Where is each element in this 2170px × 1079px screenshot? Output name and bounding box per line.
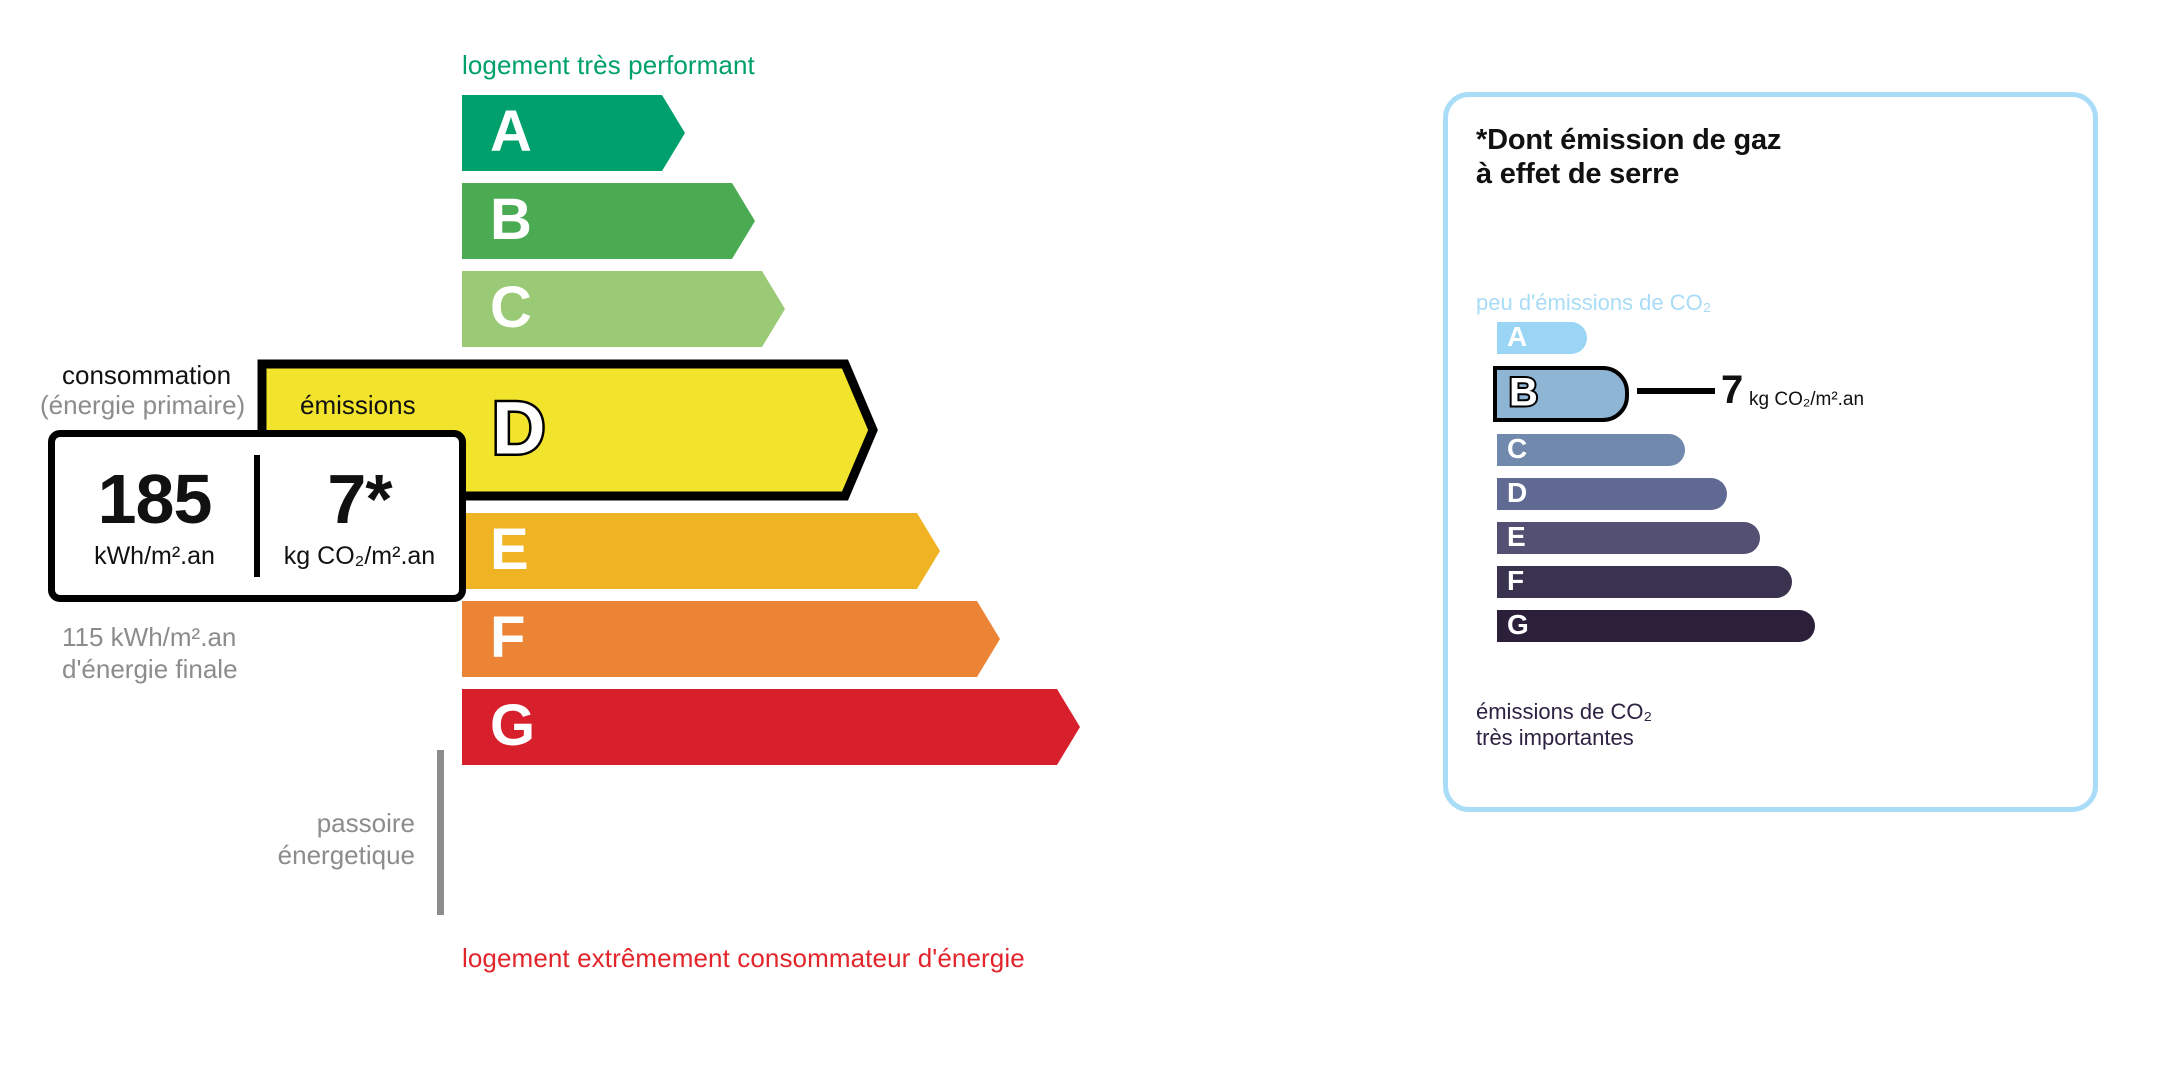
co2-bar-b-selected[interactable]: B [1493, 366, 1629, 422]
co2-bar-c[interactable]: C [1497, 434, 1685, 466]
consumption-unit: kWh/m².an [94, 544, 215, 569]
energy-bar-d-selected[interactable]: D [462, 359, 882, 501]
passoire-energetique-marker [437, 750, 444, 915]
co2-value: 7 [1721, 370, 1743, 410]
energy-letter-d: D [492, 392, 545, 466]
co2-leader-line [1637, 388, 1715, 394]
co2-unit: kg CO₂/m².an [1749, 390, 1864, 409]
emissions-label: émissions [300, 390, 416, 421]
co2-bar-f[interactable]: F [1497, 566, 1792, 598]
consumption-sublabel: (énergie primaire) [40, 390, 245, 421]
energy-arrow-f-shape [462, 601, 1007, 677]
co2-bottom-caption: émissions de CO₂ très importantes [1476, 699, 1652, 751]
consumption-value: 185 [98, 464, 212, 534]
energy-bar-b[interactable]: B [462, 183, 762, 259]
co2-bars: A B C D E F G [1497, 322, 2057, 687]
co2-bar-e[interactable]: E [1497, 522, 1760, 554]
emissions-unit: kg CO₂/m².an [284, 544, 435, 569]
energy-letter-g: G [490, 697, 535, 755]
co2-bar-g[interactable]: G [1497, 610, 1815, 642]
energy-bar-e[interactable]: E [462, 513, 947, 589]
energy-letter-a: A [490, 103, 532, 161]
energy-bottom-caption: logement extrêmement consommateur d'éner… [462, 943, 1025, 974]
co2-bar-d[interactable]: D [1497, 478, 1727, 510]
energy-bar-g[interactable]: G [462, 689, 1087, 765]
co2-emissions-panel: *Dont émission de gaz à effet de serre p… [1443, 92, 2098, 812]
consumption-label: consommation [62, 360, 231, 391]
final-energy-note: 115 kWh/m².an d'énergie finale [62, 622, 238, 685]
energy-arrow-g-shape [462, 689, 1087, 765]
passoire-energetique-label: passoire énergetique [180, 808, 415, 871]
emissions-value: 7* [327, 464, 391, 534]
energy-performance-chart: logement très performant A B [0, 0, 1400, 1079]
co2-letter-e: E [1507, 523, 1526, 551]
energy-bars: A B C D [462, 95, 1162, 925]
co2-bar-a[interactable]: A [1497, 322, 1587, 354]
energy-letter-b: B [490, 191, 532, 249]
energy-arrow-e-shape [462, 513, 947, 589]
energy-letter-f: F [490, 609, 525, 667]
energy-bar-f[interactable]: F [462, 601, 1007, 677]
energy-letter-c: C [490, 279, 532, 337]
co2-letter-d: D [1507, 479, 1527, 507]
co2-panel-title: *Dont émission de gaz à effet de serre [1476, 123, 1781, 191]
co2-letter-g: G [1507, 611, 1529, 639]
co2-letter-a: A [1507, 323, 1527, 351]
emissions-value-cell: 7* kg CO₂/m².an [260, 437, 459, 595]
value-readout-box: 185 kWh/m².an 7* kg CO₂/m².an [48, 430, 466, 602]
co2-letter-f: F [1507, 567, 1524, 595]
co2-top-caption: peu d'émissions de CO₂ [1476, 290, 1711, 316]
energy-bar-a[interactable]: A [462, 95, 692, 171]
energy-bar-c[interactable]: C [462, 271, 792, 347]
co2-letter-b: B [1509, 372, 1538, 412]
energy-top-caption: logement très performant [462, 50, 755, 81]
consumption-value-cell: 185 kWh/m².an [55, 437, 254, 595]
energy-letter-e: E [490, 521, 529, 579]
co2-letter-c: C [1507, 435, 1527, 463]
dpe-diagram: logement très performant A B [0, 0, 2170, 1079]
